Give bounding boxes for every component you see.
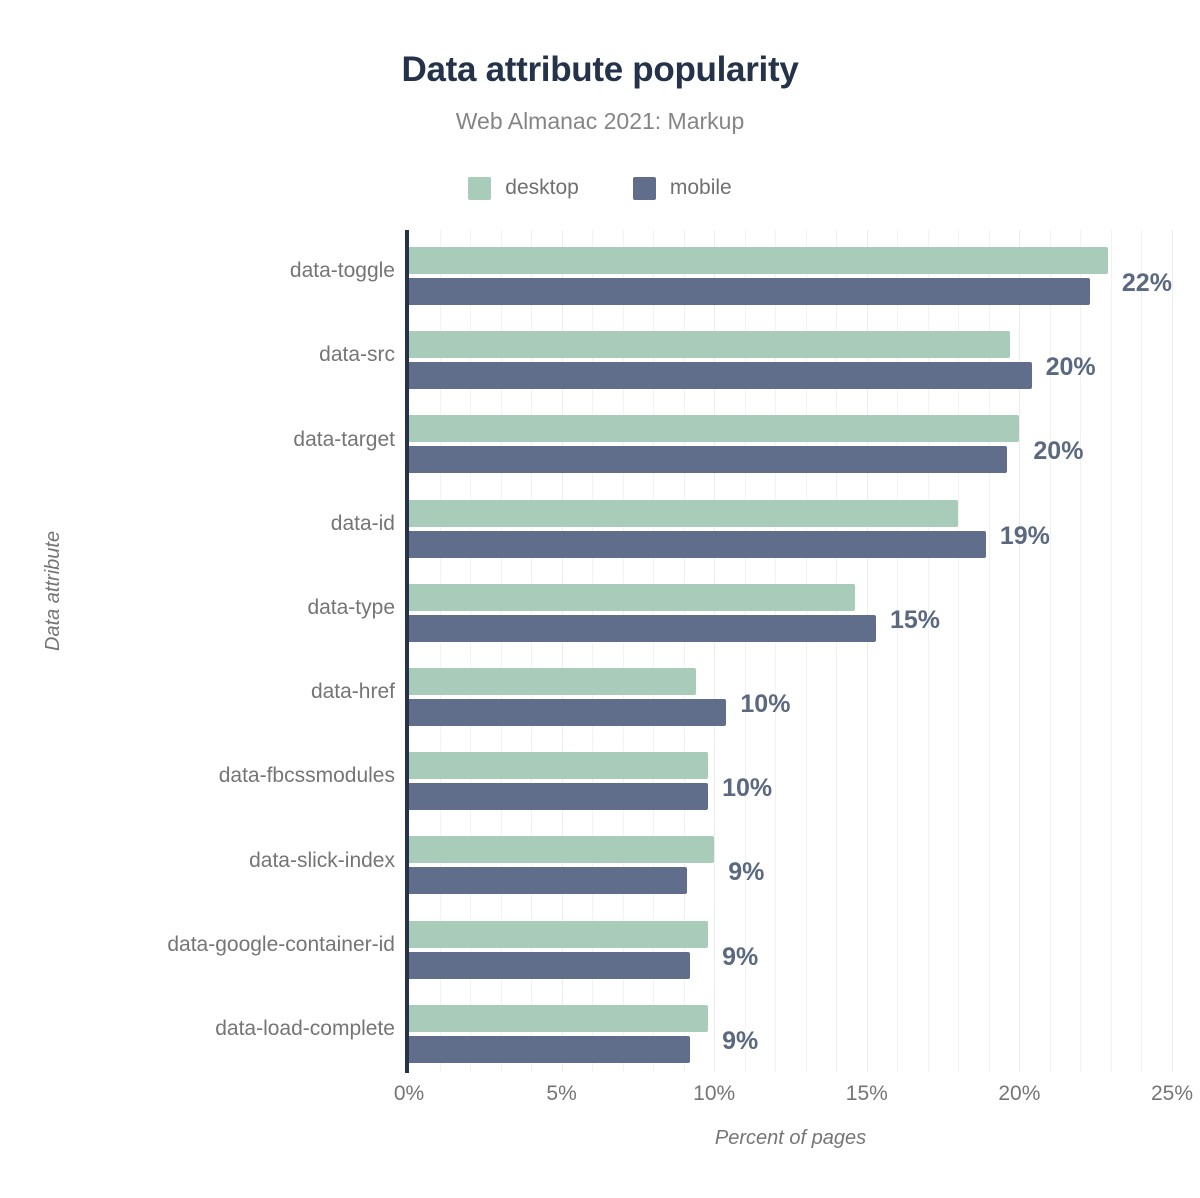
x-axis-tick: 15%: [846, 1082, 888, 1106]
bar-value-label: 10%: [722, 774, 772, 803]
x-axis-tick: 5%: [546, 1082, 576, 1106]
chart-figure: Data attribute popularity Web Almanac 20…: [0, 0, 1200, 1198]
y-axis-label[interactable]: data-toggle: [15, 259, 395, 283]
chart-legend: desktop mobile: [0, 176, 1200, 200]
legend-swatch-mobile: [633, 177, 656, 200]
bar-desktop[interactable]: [409, 921, 708, 948]
bar-group: 9%: [409, 921, 1172, 979]
bar-value-label: 19%: [1000, 522, 1050, 551]
x-axis-title: Percent of pages: [409, 1127, 1172, 1150]
bar-desktop[interactable]: [409, 415, 1019, 442]
bar-mobile[interactable]: [409, 278, 1090, 305]
bar-mobile[interactable]: [409, 952, 690, 979]
bar-value-label: 9%: [722, 1027, 758, 1056]
legend-swatch-desktop: [468, 177, 491, 200]
x-axis-tick: 25%: [1151, 1082, 1193, 1106]
bar-desktop[interactable]: [409, 247, 1108, 274]
y-axis-label[interactable]: data-slick-index: [15, 849, 395, 873]
bar-desktop[interactable]: [409, 1005, 708, 1032]
bar-desktop[interactable]: [409, 500, 958, 527]
gridline: [1172, 230, 1173, 1072]
bar-mobile[interactable]: [409, 783, 708, 810]
bar-value-label: 9%: [728, 858, 764, 887]
y-axis-label[interactable]: data-target: [15, 428, 395, 452]
bar-mobile[interactable]: [409, 1036, 690, 1063]
plot-area: 22%20%20%19%15%10%10%9%9%9%: [409, 230, 1172, 1072]
bar-mobile[interactable]: [409, 615, 876, 642]
y-axis-label[interactable]: data-fbcssmodules: [15, 764, 395, 788]
bar-desktop[interactable]: [409, 752, 708, 779]
bar-mobile[interactable]: [409, 446, 1007, 473]
x-axis-tick: 20%: [998, 1082, 1040, 1106]
bar-group: 15%: [409, 584, 1172, 642]
bar-desktop[interactable]: [409, 331, 1010, 358]
bar-desktop[interactable]: [409, 668, 696, 695]
bar-value-label: 20%: [1046, 353, 1096, 382]
bar-mobile[interactable]: [409, 867, 687, 894]
y-axis-label[interactable]: data-type: [15, 596, 395, 620]
bar-group: 9%: [409, 1005, 1172, 1063]
y-axis-category-labels: data-toggledata-srcdata-targetdata-iddat…: [0, 230, 395, 1072]
legend-label-desktop: desktop: [505, 176, 579, 200]
chart-title: Data attribute popularity: [0, 50, 1200, 90]
bar-mobile[interactable]: [409, 362, 1032, 389]
bar-value-label: 15%: [890, 606, 940, 635]
bar-mobile[interactable]: [409, 531, 986, 558]
y-axis-line: [405, 230, 409, 1073]
y-axis-label[interactable]: data-load-complete: [15, 1017, 395, 1041]
x-axis-tick: 0%: [394, 1082, 424, 1106]
bar-desktop[interactable]: [409, 584, 855, 611]
bar-group: 20%: [409, 415, 1172, 473]
bar-value-label: 9%: [722, 943, 758, 972]
y-axis-label[interactable]: data-google-container-id: [15, 933, 395, 957]
bar-desktop[interactable]: [409, 836, 714, 863]
bar-group: 10%: [409, 752, 1172, 810]
bar-group: 9%: [409, 836, 1172, 894]
bar-group: 20%: [409, 331, 1172, 389]
y-axis-label[interactable]: data-href: [15, 680, 395, 704]
bar-value-label: 20%: [1033, 437, 1083, 466]
legend-label-mobile: mobile: [670, 176, 732, 200]
y-axis-label[interactable]: data-src: [15, 343, 395, 367]
y-axis-label[interactable]: data-id: [15, 512, 395, 536]
y-axis-title: Data attribute: [42, 531, 65, 651]
x-axis-tick: 10%: [693, 1082, 735, 1106]
bar-group: 10%: [409, 668, 1172, 726]
bar-group: 22%: [409, 247, 1172, 305]
legend-item-desktop[interactable]: desktop: [468, 176, 579, 200]
bar-mobile[interactable]: [409, 699, 726, 726]
chart-subtitle: Web Almanac 2021: Markup: [0, 108, 1200, 135]
bar-value-label: 10%: [740, 690, 790, 719]
bar-group: 19%: [409, 500, 1172, 558]
legend-item-mobile[interactable]: mobile: [633, 176, 732, 200]
bar-value-label: 22%: [1122, 269, 1172, 298]
